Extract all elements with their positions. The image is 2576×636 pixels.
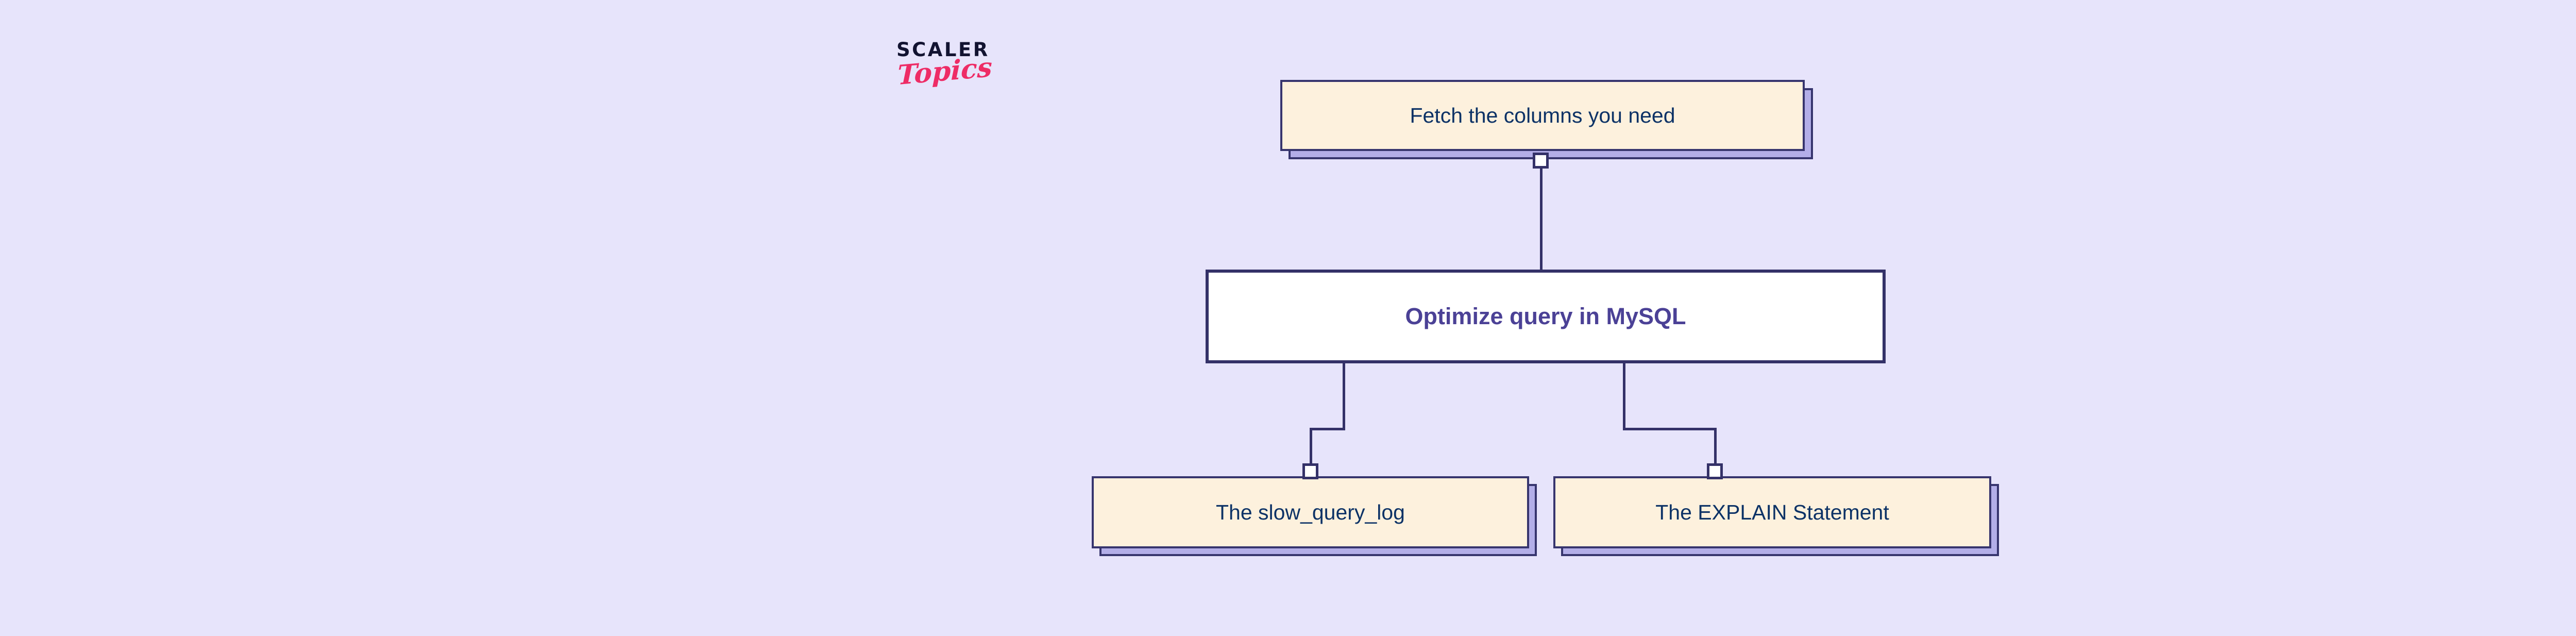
connector-fetch-to-optimize: [1540, 152, 1543, 273]
node-label-fetch-columns: Fetch the columns you need: [1410, 104, 1675, 128]
node-label-slow-query-log: The slow_query_log: [1216, 500, 1405, 525]
connector-optimize-to-explain-stem: [1623, 361, 1625, 429]
connector-handle-fetch-to-optimize: [1533, 153, 1549, 169]
node-label-optimize-query: Optimize query in MySQL: [1405, 303, 1686, 330]
node-optimize-query[interactable]: Optimize query in MySQL: [1206, 270, 1886, 363]
connector-optimize-to-slowlog-stem: [1343, 361, 1345, 429]
node-fetch-columns[interactable]: Fetch the columns you need: [1280, 80, 1805, 151]
node-label-explain-statement: The EXPLAIN Statement: [1655, 500, 1889, 525]
connector-optimize-to-slowlog-span: [1310, 428, 1345, 430]
scaler-topics-logo: SCALER Topics: [896, 40, 1051, 123]
node-slow-query-log[interactable]: The slow_query_log: [1092, 476, 1529, 548]
diagram-canvas: SCALER Topics Fetch the columns you need…: [0, 0, 2576, 636]
connector-handle-explain: [1707, 463, 1723, 479]
connector-optimize-to-explain-span: [1623, 428, 1717, 430]
connector-handle-slowlog: [1302, 463, 1318, 479]
node-explain-statement[interactable]: The EXPLAIN Statement: [1553, 476, 1991, 548]
